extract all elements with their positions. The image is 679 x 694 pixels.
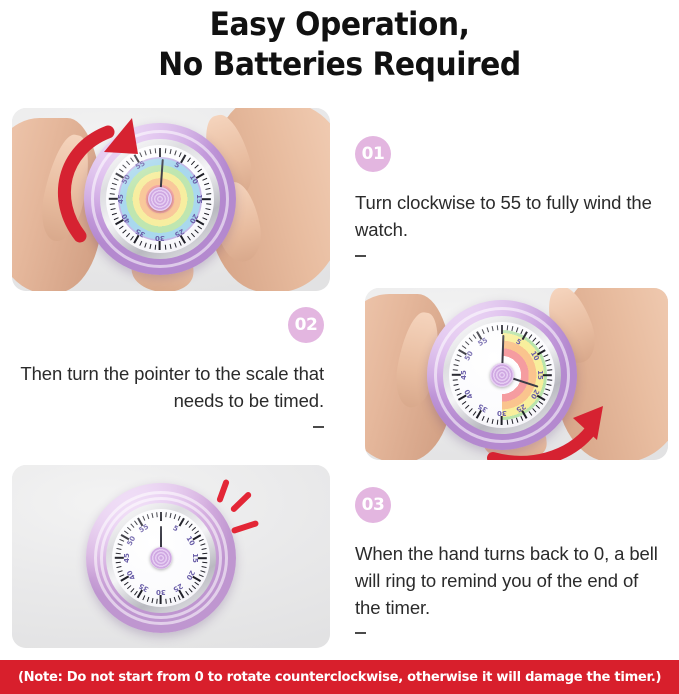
dial-tick-minor	[201, 566, 206, 568]
dial-tick-minor	[177, 516, 180, 521]
dial-tick-minor	[546, 384, 551, 386]
dial-tick-minor	[198, 574, 203, 577]
step-02-badge: 02	[288, 307, 324, 343]
dial-tick-minor	[130, 523, 134, 527]
dial-number-50: 50	[126, 535, 138, 547]
warning-note-banner: (Note: Do not start from 0 to rotate cou…	[0, 660, 679, 694]
dial-tick-minor	[202, 217, 207, 220]
page-title-line-1: Easy Operation,	[24, 4, 655, 44]
dial-tick-minor	[468, 338, 472, 342]
step-02: 02 Then turn the pointer to the scale th…	[14, 307, 324, 433]
dial-tick-minor	[202, 553, 207, 555]
dial-tick-minor	[169, 598, 171, 603]
product-infographic: Easy Operation, No Batteries Required 51…	[0, 0, 679, 694]
dial-tick-minor	[188, 523, 192, 527]
dial-tick-minor	[452, 369, 457, 371]
dial-tick-major	[179, 518, 185, 527]
dial-tick-minor	[454, 388, 459, 390]
dial-tick-minor	[465, 341, 469, 345]
dial-tick-major	[501, 325, 503, 334]
dial-tick-minor	[545, 388, 550, 390]
dial-tick-minor	[453, 384, 458, 386]
dial-tick-minor	[119, 539, 124, 542]
step-03: 03 When the hand turns back to 0, a bell…	[355, 487, 665, 639]
timer-hub	[150, 547, 172, 569]
dial-tick-minor	[130, 588, 134, 592]
dial-number-15: 15	[195, 194, 203, 204]
dial-tick-minor	[173, 597, 175, 602]
dial-tick-minor	[164, 148, 166, 153]
dial-tick-minor	[178, 152, 181, 157]
dial-tick-minor	[468, 408, 472, 412]
dial-tick-minor	[496, 325, 498, 330]
page-title-line-2: No Batteries Required	[24, 44, 655, 84]
dial-number-15: 15	[536, 370, 544, 380]
step-02-badge-wrap: 02	[14, 307, 324, 343]
dial-tick-minor	[545, 359, 550, 361]
dial-tick-major	[159, 148, 161, 157]
step-01-badge: 01	[355, 136, 391, 172]
dial-tick-minor	[116, 566, 121, 568]
dial-tick-minor	[154, 245, 156, 250]
dial-tick-minor	[123, 531, 128, 535]
dial-tick-minor	[506, 325, 508, 330]
dial-tick-minor	[169, 513, 171, 518]
dial-tick-minor	[169, 244, 171, 249]
dial-tick-minor	[191, 527, 195, 531]
dial-tick-minor	[191, 585, 195, 589]
kitchen-timer: 510152025303540455055	[86, 483, 236, 633]
step-01-text: Turn clockwise to 55 to fully wind the w…	[355, 190, 665, 244]
dial-tick-minor	[465, 405, 469, 409]
step-01-divider	[355, 255, 366, 257]
dial-number-45: 45	[460, 370, 468, 380]
dial-tick-minor	[194, 582, 199, 586]
dial-tick-minor	[205, 188, 210, 190]
dial-number-5: 5	[171, 524, 179, 533]
dial-tick-minor	[117, 570, 122, 572]
dial-tick-minor	[194, 531, 199, 535]
dial-tick-minor	[177, 595, 180, 600]
dial-tick-minor	[165, 599, 167, 604]
dial-tick-minor	[204, 183, 209, 185]
dial-tick-minor	[115, 553, 120, 555]
dial-tick-minor	[453, 364, 458, 366]
dial-tick-minor	[142, 595, 145, 600]
dial-tick-minor	[547, 379, 552, 381]
dial-tick-minor	[116, 548, 121, 550]
timer-hub	[490, 363, 514, 387]
dial-number-30: 30	[155, 234, 165, 242]
dial-tick-minor	[173, 514, 175, 519]
dial-tick-major	[159, 241, 161, 250]
dial-tick-minor	[197, 169, 202, 173]
dial-number-30: 30	[156, 588, 166, 596]
step-01: 01 Turn clockwise to 55 to fully wind th…	[355, 136, 665, 262]
dial-tick-minor	[190, 233, 194, 237]
dial-tick-minor	[156, 599, 158, 604]
dial-tick-minor	[197, 226, 202, 230]
dial-tick-minor	[481, 329, 484, 334]
dial-tick-minor	[146, 597, 148, 602]
step-02-divider	[313, 426, 324, 428]
dial-tick-major	[198, 557, 207, 559]
warning-note-text: (Note: Do not start from 0 to rotate cou…	[18, 669, 661, 685]
timer-face: 510152025303540455055	[112, 509, 210, 607]
dial-tick-minor	[201, 548, 206, 550]
step-02-text: Then turn the pointer to the scale that …	[14, 361, 324, 415]
dial-tick-minor	[491, 326, 493, 331]
dial-number-45: 45	[123, 553, 131, 563]
counterclockwise-arrow-icon	[483, 396, 613, 460]
dial-tick-minor	[456, 393, 461, 396]
photo-bell-rings: 510152025303540455055	[12, 465, 330, 648]
step-03-badge: 03	[355, 487, 391, 523]
dial-tick-minor	[461, 401, 466, 405]
dial-tick-minor	[461, 345, 466, 349]
dial-tick-minor	[206, 203, 211, 205]
step-03-badge-wrap: 03	[355, 487, 665, 523]
dial-tick-minor	[200, 570, 205, 572]
dial-tick-major	[543, 374, 552, 376]
dial-tick-minor	[190, 161, 194, 165]
dial-tick-minor	[535, 341, 539, 345]
dial-number-15: 15	[191, 553, 199, 563]
dial-tick-minor	[200, 543, 205, 545]
step-03-divider	[355, 632, 366, 634]
dial-tick-minor	[119, 574, 124, 577]
photo-set-pointer: 510152025303540455055	[365, 288, 668, 460]
dial-tick-minor	[126, 527, 130, 531]
dial-tick-minor	[151, 513, 153, 518]
dial-tick-minor	[515, 327, 517, 332]
dial-tick-minor	[185, 520, 189, 525]
dial-tick-minor	[194, 165, 198, 169]
dial-tick-minor	[472, 411, 476, 416]
dial-tick-minor	[123, 582, 128, 586]
dial-tick-minor	[164, 245, 166, 250]
dial-tick-minor	[165, 512, 167, 517]
dial-number-25: 25	[172, 582, 184, 594]
dial-tick-minor	[169, 149, 171, 154]
dial-tick-minor	[532, 338, 536, 342]
dial-tick-minor	[187, 236, 191, 241]
dial-tick-minor	[547, 369, 552, 371]
step-03-text: When the hand turns back to 0, a bell wi…	[355, 541, 665, 621]
dial-tick-minor	[115, 562, 120, 564]
dial-tick-major	[202, 198, 211, 200]
dial-tick-minor	[205, 208, 210, 210]
dial-tick-minor	[174, 150, 176, 155]
dial-tick-minor	[178, 241, 181, 246]
dial-number-50: 50	[463, 350, 475, 362]
dial-tick-minor	[134, 520, 138, 525]
dial-tick-minor	[142, 516, 145, 521]
dial-tick-minor	[194, 229, 198, 233]
dial-tick-minor	[134, 591, 138, 596]
dial-tick-minor	[472, 334, 476, 339]
page-title: Easy Operation, No Batteries Required	[0, 0, 679, 85]
dial-tick-minor	[452, 379, 457, 381]
dial-tick-minor	[117, 543, 122, 545]
dial-tick-minor	[204, 213, 209, 215]
dial-tick-minor	[520, 329, 523, 334]
dial-number-20: 20	[184, 569, 196, 581]
dial-tick-minor	[198, 539, 203, 542]
dial-tick-major	[160, 595, 162, 604]
dial-tick-minor	[206, 193, 211, 195]
dial-tick-minor	[528, 334, 532, 339]
dial-number-40: 40	[463, 388, 475, 400]
dial-tick-minor	[151, 598, 153, 603]
dial-tick-minor	[543, 354, 548, 357]
step-01-badge-wrap: 01	[355, 136, 665, 172]
dial-tick-minor	[188, 588, 192, 592]
dial-tick-minor	[538, 345, 543, 349]
clockwise-arrow-icon	[46, 114, 156, 244]
dial-tick-minor	[187, 157, 191, 162]
dial-tick-minor	[454, 359, 459, 361]
dial-number-40: 40	[126, 569, 138, 581]
dial-tick-minor	[146, 514, 148, 519]
dial-tick-major	[160, 512, 162, 521]
dial-tick-minor	[202, 562, 207, 564]
dial-tick-minor	[185, 591, 189, 596]
dial-tick-minor	[126, 585, 130, 589]
dial-tick-minor	[149, 244, 151, 249]
dial-tick-minor	[174, 243, 176, 248]
photo-wind-timer: 510152025303540455055	[12, 108, 330, 291]
dial-tick-minor	[486, 327, 488, 332]
dial-tick-minor	[156, 512, 158, 517]
dial-tick-minor	[202, 178, 207, 181]
dial-tick-major	[180, 154, 186, 163]
dial-tick-minor	[456, 354, 461, 357]
dial-tick-minor	[546, 364, 551, 366]
